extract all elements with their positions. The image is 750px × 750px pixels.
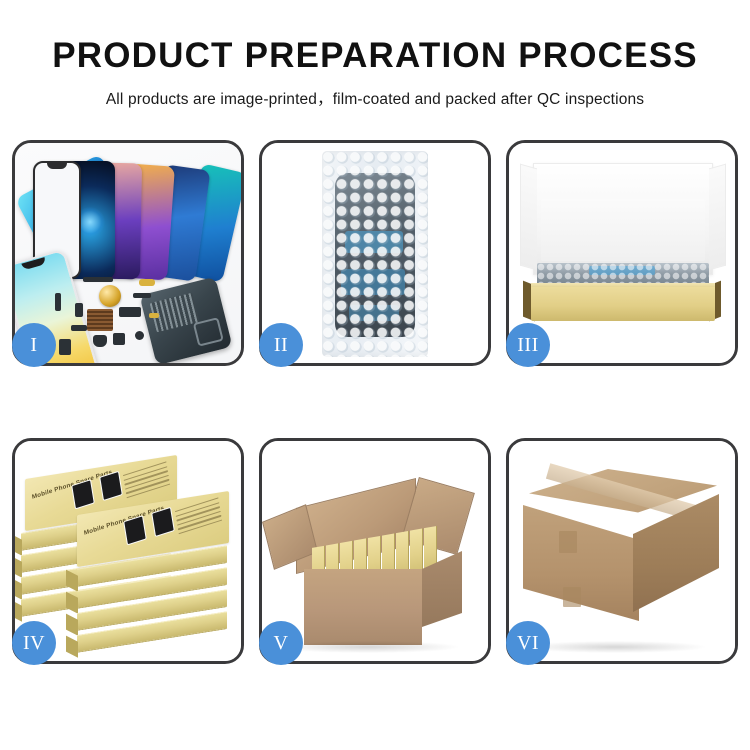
step-panel-3[interactable]: III [506, 140, 738, 366]
small-part-icon [113, 333, 125, 345]
steps-grid: I II [12, 140, 738, 672]
product-thumbnail [71, 479, 95, 509]
speaker-mesh-icon [87, 309, 113, 331]
step-badge-4: IV [12, 621, 56, 665]
sealed-carton-icon [523, 469, 719, 629]
step-badge-2: II [259, 323, 303, 367]
vibrator-icon [93, 335, 107, 347]
step-badge-5: V [259, 621, 303, 665]
step-panel-5[interactable]: V [259, 438, 491, 664]
box-stack: Mobile Phone Spare Parts Mobile Phone Sp… [19, 459, 235, 649]
drop-shadow [278, 641, 458, 653]
carton-label [559, 531, 577, 553]
blue-accent [345, 231, 403, 253]
foam-insert-icon [541, 199, 705, 261]
carton-label [563, 587, 581, 607]
page-title: PRODUCT PREPARATION PROCESS [0, 0, 750, 73]
step-panel-4[interactable]: Mobile Phone Spare Parts Mobile Phone Sp… [12, 438, 244, 664]
screw-icon [135, 331, 144, 340]
blue-accent [341, 269, 405, 295]
step-badge-6: VI [506, 621, 550, 665]
small-part-icon [75, 303, 83, 317]
blue-accent [349, 305, 399, 321]
small-part-icon [55, 293, 61, 311]
spec-lines [175, 497, 223, 540]
step-badge-3: III [506, 323, 550, 367]
product-preparation-infographic: PRODUCT PREPARATION PROCESS All products… [0, 0, 750, 750]
button-flex-icon [133, 293, 151, 298]
sim-tray-icon [59, 339, 71, 355]
step-badge-1: I [12, 323, 56, 367]
flex-cable-icon [83, 277, 113, 282]
step-panel-1[interactable]: I [12, 140, 244, 366]
product-thumbnail [123, 515, 147, 545]
gold-contact-icon [149, 313, 159, 318]
yellow-box-front-icon [531, 287, 715, 321]
carton-front-face [523, 505, 639, 621]
step-panel-2[interactable]: II [259, 140, 491, 366]
product-thumbnail [151, 507, 175, 537]
header: PRODUCT PREPARATION PROCESS All products… [0, 0, 750, 109]
page-subtitle: All products are image-printed，film-coat… [0, 73, 750, 109]
bubble-wrap-sheet [322, 151, 428, 357]
carton-front-face [304, 569, 422, 645]
drop-shadow [525, 641, 705, 653]
step-panel-6[interactable]: VI [506, 438, 738, 664]
small-part-icon [71, 325, 87, 331]
gold-connector-icon [139, 279, 155, 286]
camera-module-icon [119, 307, 141, 317]
wrapped-phone-icon [335, 173, 415, 337]
product-thumbnail [99, 471, 123, 501]
spec-lines [123, 461, 171, 504]
